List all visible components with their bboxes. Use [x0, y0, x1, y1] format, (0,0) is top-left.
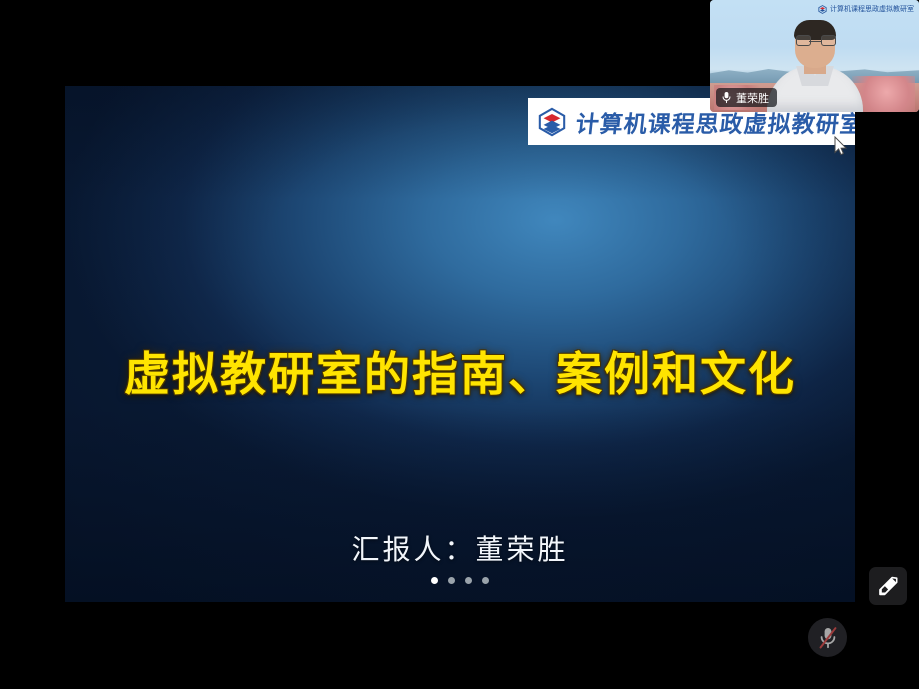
slide-page-dots — [65, 577, 855, 584]
slide-content: 虚拟教研室的指南、案例和文化 汇报人：董荣胜 2022年11月3日 — [65, 86, 855, 602]
participant-portrait — [767, 26, 863, 112]
meeting-stage: 虚拟教研室的指南、案例和文化 汇报人：董荣胜 2022年11月3日 计算机课程思… — [0, 0, 919, 689]
video-watermark: 计算机课程思政虚拟教研室 — [818, 4, 914, 14]
microphone-muted-icon — [817, 626, 839, 650]
slide-presenter-line: 汇报人：董荣胜 — [65, 528, 855, 568]
page-dot-4[interactable] — [482, 577, 489, 584]
pen-annotate-icon — [877, 575, 899, 597]
page-dot-3[interactable] — [465, 577, 472, 584]
video-watermark-text: 计算机课程思政虚拟教研室 — [830, 4, 914, 14]
portrait-glasses-right — [821, 35, 836, 46]
annotate-button[interactable] — [869, 567, 907, 605]
participant-nameplate: 董荣胜 — [716, 88, 777, 107]
participant-video-tile[interactable]: 计算机课程思政虚拟教研室 董荣胜 — [710, 0, 919, 112]
slide-title: 虚拟教研室的指南、案例和文化 — [65, 338, 855, 404]
page-dot-1[interactable] — [431, 577, 438, 584]
portrait-glasses-bridge — [809, 41, 821, 42]
hexagon-book-logo-icon — [818, 5, 827, 14]
page-dot-2[interactable] — [448, 577, 455, 584]
shared-slide[interactable]: 虚拟教研室的指南、案例和文化 汇报人：董荣胜 2022年11月3日 计算机课程思… — [65, 86, 855, 602]
hexagon-book-logo-icon — [537, 107, 567, 137]
microphone-icon — [721, 91, 732, 104]
participant-name-label: 董荣胜 — [736, 90, 769, 106]
mute-toggle-button[interactable] — [808, 618, 847, 657]
